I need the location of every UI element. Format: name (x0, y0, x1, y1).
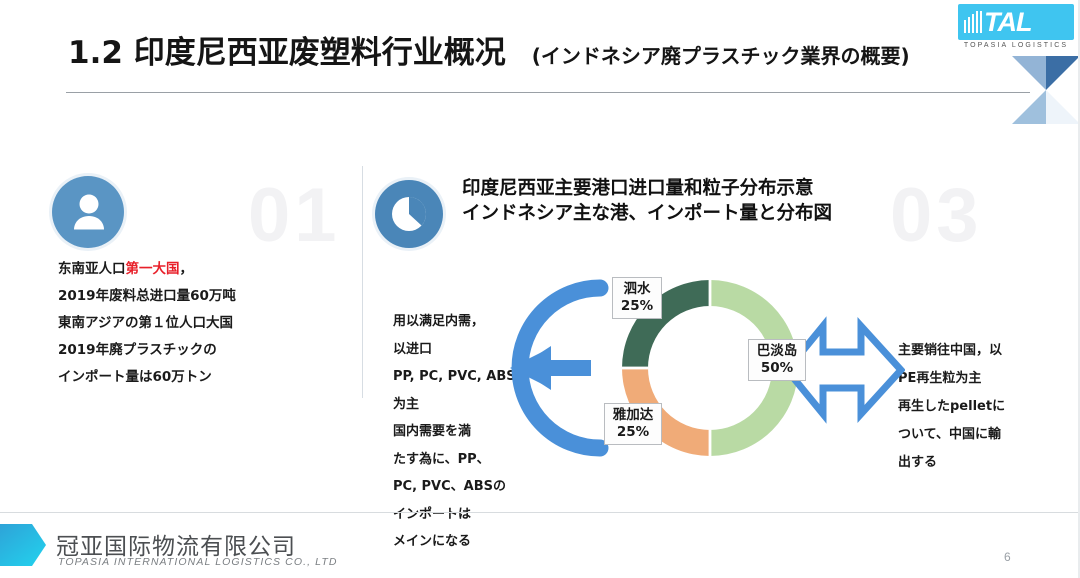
callout-badan-pct: 50% (755, 360, 799, 377)
inbound-line-4: 为主 (393, 391, 521, 419)
inbound-description: 用以满足内需， 以进口 PP, PC, PVC, ABS 为主 国内需要を満 た… (393, 308, 521, 556)
logo-box: TAL (958, 4, 1074, 40)
callout-badan: 巴淡岛 50% (748, 339, 806, 381)
outbound-line-5: 出する (898, 449, 1058, 477)
title-divider (66, 92, 1030, 93)
clock-icon (375, 180, 443, 248)
person-icon (52, 176, 124, 248)
inbound-line-9: メインになる (393, 528, 521, 556)
left-summary-text: 东南亚人口第一大国， 2019年废料总进口量60万吨 東南アジアの第１位人口大国… (58, 256, 308, 391)
inbound-line-2: 以进口 (393, 336, 521, 364)
left-line-3: 東南アジアの第１位人口大国 (58, 310, 308, 337)
callout-sishui: 泗水 25% (612, 277, 662, 319)
callout-sishui-name: 泗水 (619, 281, 655, 298)
left-line-1b: ， (180, 261, 194, 277)
outbound-line-1: 主要销往中国，以 (898, 337, 1058, 365)
page-title-sub: (インドネシア廃プラスチック業界の概要) (532, 40, 910, 69)
column-divider (362, 166, 363, 398)
section-heading-cn: 印度尼西亚主要港口进口量和粒子分布示意 (462, 176, 982, 201)
outbound-line-2: PE再生粒为主 (898, 365, 1058, 393)
outbound-description: 主要销往中国，以 PE再生粒为主 再生したpelletに ついて、中国に輸 出す… (898, 337, 1058, 477)
outbound-line-3: 再生したpelletに (898, 393, 1058, 421)
callout-sishui-pct: 25% (619, 298, 655, 315)
callout-yajiada-name: 雅加达 (611, 407, 655, 424)
footer-divider (0, 512, 1080, 513)
section-heading: 印度尼西亚主要港口进口量和粒子分布示意 インドネシア主な港、インポート量と分布図 (462, 176, 982, 226)
slide-root: TAL TOPASIA LOGISTICS 1.2 印度尼西亚废塑料行业概况 (… (0, 0, 1080, 578)
callout-yajiada: 雅加达 25% (604, 403, 662, 445)
outbound-line-4: ついて、中国に輸 (898, 421, 1058, 449)
inbound-line-7: PC, PVC、ABSの (393, 473, 521, 501)
left-line-4: 2019年廃プラスチックの (58, 337, 308, 364)
page-title-main: 1.2 印度尼西亚废塑料行业概况 (68, 27, 506, 72)
inbound-line-6: たす為に、PP、 (393, 446, 521, 474)
inbound-line-1: 用以满足内需， (393, 308, 521, 336)
logo-wordmark: TAL (984, 9, 1031, 36)
callout-yajiada-pct: 25% (611, 424, 655, 441)
footer-company-en: TOPASIA INTERNATIONAL LOGISTICS CO., LTD (58, 556, 338, 568)
inbound-line-5: 国内需要を満 (393, 418, 521, 446)
logo-tagline: TOPASIA LOGISTICS (958, 42, 1074, 49)
inbound-arrow-icon (510, 288, 600, 448)
left-line-1a: 东南亚人口 (58, 261, 126, 277)
left-line-1-highlight: 第一大国 (126, 261, 180, 277)
page-title: 1.2 印度尼西亚废塑料行业概况 (インドネシア廃プラスチック業界の概要) (68, 27, 910, 72)
inbound-line-8: インポートは (393, 501, 521, 529)
tal-logo: TAL TOPASIA LOGISTICS (958, 4, 1074, 49)
logo-bars-icon (964, 11, 982, 33)
pinwheel-decoration-icon (1012, 56, 1080, 124)
footer-hex-logo-icon (0, 524, 48, 566)
left-line-2: 2019年废料总进口量60万吨 (58, 283, 308, 310)
callout-badan-name: 巴淡岛 (755, 343, 799, 360)
section-heading-jp: インドネシア主な港、インポート量と分布図 (462, 201, 982, 226)
watermark-01: 01 (248, 172, 341, 259)
port-distribution-figure (505, 248, 905, 488)
left-line-5: インポート量は60万トン (58, 364, 308, 391)
inbound-line-3: PP, PC, PVC, ABS (393, 363, 521, 391)
page-number: 6 (1004, 550, 1011, 564)
left-line-1: 东南亚人口第一大国， (58, 256, 308, 283)
